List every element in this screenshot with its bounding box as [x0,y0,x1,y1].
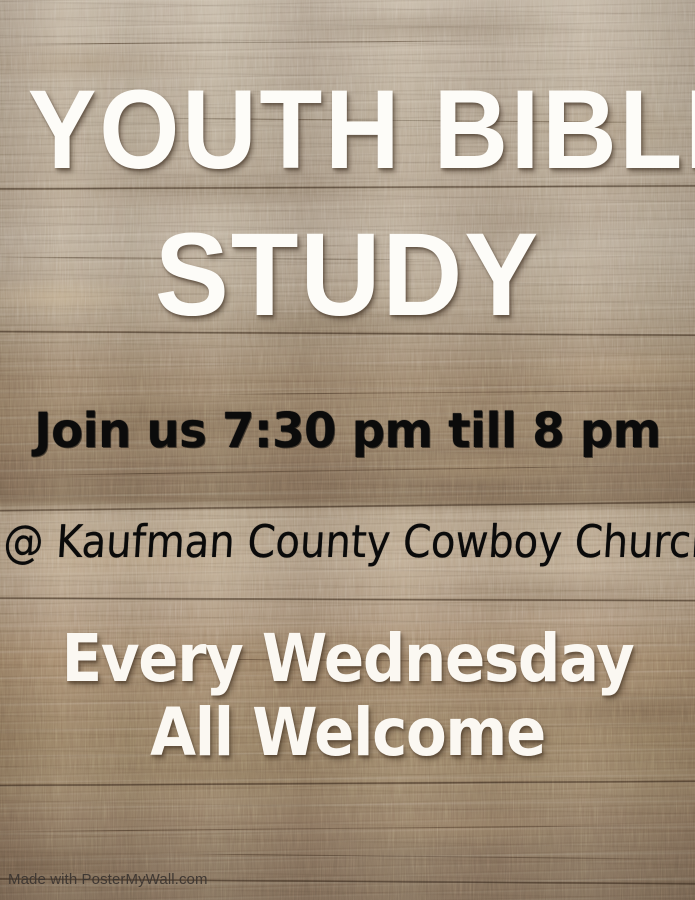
poster-headline-line-1: YOUTH BIBLE [28,74,667,186]
poster-time-line: Join us 7:30 pm till 8 pm [10,405,684,457]
poster-closing-line-2: All Welcome [35,700,661,766]
postermywall-watermark: Made with PosterMyWall.com [8,872,208,888]
poster-canvas: YOUTH BIBLE STUDY Join us 7:30 pm till 8… [0,0,695,900]
poster-headline-line-2: STUDY [21,216,674,334]
poster-content: YOUTH BIBLE STUDY Join us 7:30 pm till 8… [0,0,695,900]
poster-venue-line: @ Kaufman County Cowboy Church [2,518,693,566]
poster-closing-line-1: Every Wednesday [35,626,661,692]
